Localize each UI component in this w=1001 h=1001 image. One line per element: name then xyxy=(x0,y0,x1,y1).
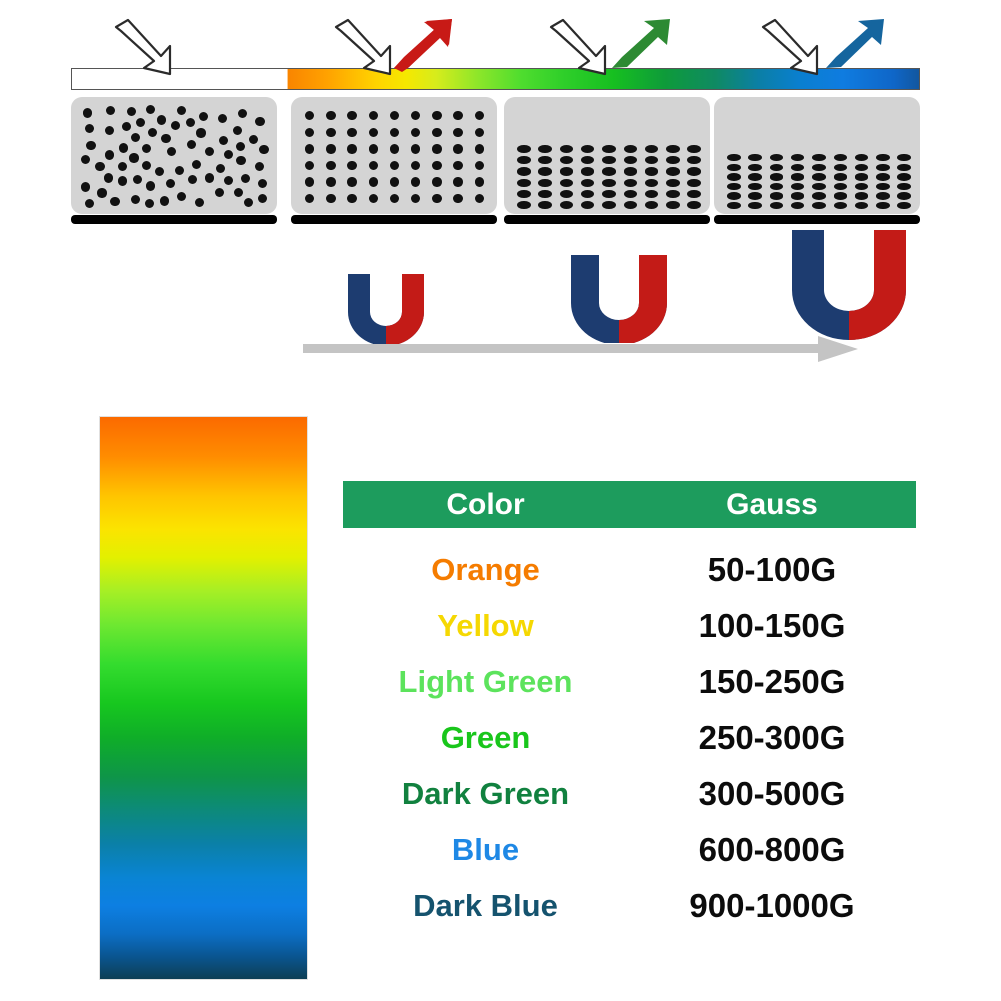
particle-dot xyxy=(233,126,242,135)
particle-dot xyxy=(727,183,741,190)
particle-dot xyxy=(538,156,552,164)
particle-dot xyxy=(453,144,462,153)
particle-dot xyxy=(347,177,356,186)
panel-random-particles xyxy=(71,97,277,214)
particle-dot xyxy=(855,183,869,190)
particle-dot xyxy=(624,190,638,198)
particle-dot xyxy=(855,154,869,161)
table-row: Dark Blue900-1000G xyxy=(343,878,916,934)
particle-dot xyxy=(517,179,531,187)
particle-dot xyxy=(259,145,268,154)
particle-dot xyxy=(560,190,574,198)
particle-dot xyxy=(258,179,267,188)
particle-dot xyxy=(770,154,784,161)
particle-dot xyxy=(177,106,186,115)
particle-dot xyxy=(305,177,314,186)
particle-dot xyxy=(560,179,574,187)
particle-dot xyxy=(770,173,784,180)
particle-dot xyxy=(876,164,890,171)
particle-dot xyxy=(224,176,233,185)
particle-dot xyxy=(666,179,680,187)
particle-dot xyxy=(390,194,399,203)
particle-dot xyxy=(517,167,531,175)
particle-dot xyxy=(538,190,552,198)
particle-dot xyxy=(645,179,659,187)
particle-dot xyxy=(155,167,164,176)
particle-dot xyxy=(205,147,214,156)
particle-dot xyxy=(215,188,224,197)
particle-dot xyxy=(255,162,264,171)
particle-dot xyxy=(770,192,784,199)
cell-color-name: Dark Blue xyxy=(343,888,628,924)
cell-gauss-range: 600-800G xyxy=(628,831,916,869)
particle-dot xyxy=(216,164,225,173)
table-row: Orange50-100G xyxy=(343,542,916,598)
particle-dot xyxy=(791,164,805,171)
particle-dot xyxy=(326,144,335,153)
particle-dot xyxy=(791,173,805,180)
particle-dot xyxy=(602,201,616,209)
particle-dot xyxy=(834,192,848,199)
particle-dot xyxy=(748,164,762,171)
particle-dot xyxy=(432,111,441,120)
particle-dot xyxy=(876,183,890,190)
particle-dot xyxy=(666,201,680,209)
table-row: Yellow100-150G xyxy=(343,598,916,654)
particle-dot xyxy=(581,179,595,187)
particle-dot xyxy=(581,156,595,164)
particle-dot xyxy=(148,128,157,137)
particle-dot xyxy=(687,167,701,175)
column-header-color: Color xyxy=(343,488,628,522)
particle-dot xyxy=(205,173,214,182)
particle-dot xyxy=(118,176,127,185)
particle-dot xyxy=(97,188,106,197)
particle-dot xyxy=(666,156,680,164)
particle-dot xyxy=(369,111,378,120)
cell-color-name: Yellow xyxy=(343,608,628,644)
particle-dot xyxy=(146,105,155,114)
red-arrow-icon xyxy=(390,16,456,72)
particle-dot xyxy=(175,166,184,175)
particle-dot xyxy=(326,177,335,186)
particle-dot xyxy=(411,144,420,153)
particle-dot xyxy=(560,145,574,153)
cell-color-name: Orange xyxy=(343,552,628,588)
particle-dot xyxy=(390,177,399,186)
particle-dot xyxy=(136,118,145,127)
particle-dot xyxy=(105,150,114,159)
particle-dot xyxy=(187,140,196,149)
particle-dot xyxy=(770,183,784,190)
particle-dot xyxy=(196,128,205,137)
particle-dot xyxy=(218,114,227,123)
particle-dot xyxy=(347,144,356,153)
particle-dot xyxy=(411,194,420,203)
particle-dot xyxy=(142,144,151,153)
particle-dot xyxy=(195,198,204,207)
particle-dot xyxy=(119,143,128,152)
particle-dot xyxy=(748,154,762,161)
particle-dot xyxy=(812,164,826,171)
particle-dot xyxy=(834,164,848,171)
particle-dot xyxy=(133,175,142,184)
particle-dot xyxy=(186,118,195,127)
particle-dot xyxy=(411,177,420,186)
particle-dot xyxy=(249,135,258,144)
particle-dot xyxy=(110,197,119,206)
particle-dot xyxy=(390,128,399,137)
particle-dot xyxy=(475,177,484,186)
cell-color-name: Blue xyxy=(343,832,628,868)
particle-dot xyxy=(645,145,659,153)
particle-dot xyxy=(85,199,94,208)
particle-dot xyxy=(687,179,701,187)
particle-dot xyxy=(305,161,314,170)
particle-dot xyxy=(142,161,151,170)
particle-dot xyxy=(645,190,659,198)
particle-dot xyxy=(326,128,335,137)
particle-dot xyxy=(560,201,574,209)
cell-gauss-range: 900-1000G xyxy=(628,887,916,925)
particle-dot xyxy=(369,161,378,170)
cell-color-name: Light Green xyxy=(343,664,628,700)
particle-dot xyxy=(602,190,616,198)
particle-dot xyxy=(624,201,638,209)
table-header-row: Color Gauss xyxy=(343,481,916,528)
particle-dot xyxy=(748,192,762,199)
particle-dot xyxy=(305,128,314,137)
cell-gauss-range: 250-300G xyxy=(628,719,916,757)
particle-dot xyxy=(390,144,399,153)
particle-dot xyxy=(347,111,356,120)
particle-dot xyxy=(897,202,911,209)
particle-dot xyxy=(602,156,616,164)
particle-dot xyxy=(244,198,253,207)
particle-dot xyxy=(167,147,176,156)
panel-base-bar xyxy=(71,215,277,224)
vertical-color-gradient-swatch xyxy=(100,417,307,979)
particle-dot xyxy=(812,183,826,190)
gauss-color-chart-page: Color Gauss Orange50-100GYellow100-150GL… xyxy=(0,0,1001,1001)
particle-dot xyxy=(834,154,848,161)
particle-dot xyxy=(897,173,911,180)
particle-dot xyxy=(105,126,114,135)
magnet-small xyxy=(340,272,432,344)
table-row: Light Green150-250G xyxy=(343,654,916,710)
particle-dot xyxy=(517,145,531,153)
particle-dot xyxy=(897,192,911,199)
particle-dot xyxy=(727,192,741,199)
panel-base-bar xyxy=(291,215,497,224)
particle-dot xyxy=(390,111,399,120)
particle-dot xyxy=(104,173,113,182)
cell-gauss-range: 300-500G xyxy=(628,775,916,813)
particle-dot xyxy=(258,194,267,203)
particle-dot xyxy=(581,167,595,175)
particle-dot xyxy=(411,111,420,120)
particle-dot xyxy=(145,199,154,208)
increasing-strength-arrow xyxy=(303,335,858,363)
green-arrow-icon xyxy=(608,16,674,72)
particle-dot xyxy=(432,194,441,203)
particle-dot xyxy=(475,194,484,203)
particle-dot xyxy=(432,144,441,153)
particle-dot xyxy=(517,201,531,209)
particle-dot xyxy=(538,167,552,175)
particle-dot xyxy=(453,111,462,120)
particle-dot xyxy=(131,195,140,204)
table-row: Blue600-800G xyxy=(343,822,916,878)
table-row: Dark Green300-500G xyxy=(343,766,916,822)
particle-dot xyxy=(855,164,869,171)
particle-dot xyxy=(517,156,531,164)
particle-dot xyxy=(791,183,805,190)
particle-dot xyxy=(687,190,701,198)
particle-dot xyxy=(687,156,701,164)
particle-dot xyxy=(624,145,638,153)
particle-dot xyxy=(897,183,911,190)
particle-dot xyxy=(131,133,140,142)
particle-dot xyxy=(748,202,762,209)
magnet-large xyxy=(782,228,916,340)
particle-dot xyxy=(238,109,247,118)
particle-dot xyxy=(855,202,869,209)
particle-dot xyxy=(770,164,784,171)
panel-compressed-full xyxy=(714,97,920,214)
particle-dot xyxy=(727,154,741,161)
particle-dot xyxy=(127,107,136,116)
particle-dot xyxy=(602,179,616,187)
blue-arrow-icon xyxy=(822,16,888,72)
particle-dot xyxy=(369,128,378,137)
panel-compressed-partial xyxy=(504,97,710,214)
particle-dot xyxy=(118,162,127,171)
particle-dot xyxy=(192,160,201,169)
particle-dot xyxy=(876,202,890,209)
table-body: Orange50-100GYellow100-150GLight Green15… xyxy=(343,542,916,934)
particle-dot xyxy=(188,175,197,184)
particle-dot xyxy=(855,173,869,180)
particle-dot xyxy=(624,179,638,187)
particle-dot xyxy=(812,154,826,161)
particle-dot xyxy=(369,144,378,153)
particle-dot xyxy=(581,145,595,153)
particle-dot xyxy=(347,161,356,170)
particle-dot xyxy=(897,164,911,171)
white-arrow-icon xyxy=(760,18,830,78)
particle-dot xyxy=(727,202,741,209)
particle-dot xyxy=(748,183,762,190)
particle-dot xyxy=(876,154,890,161)
particle-dot xyxy=(666,167,680,175)
cell-gauss-range: 100-150G xyxy=(628,607,916,645)
particle-dot xyxy=(241,174,250,183)
particle-dot xyxy=(95,162,104,171)
particle-dot xyxy=(369,194,378,203)
particle-dot xyxy=(305,111,314,120)
particle-dot xyxy=(177,192,186,201)
particle-dot xyxy=(411,161,420,170)
particle-dot xyxy=(157,115,166,124)
particle-dot xyxy=(581,201,595,209)
particle-dot xyxy=(106,106,115,115)
particle-dot xyxy=(369,177,378,186)
particle-dot xyxy=(219,136,228,145)
particle-dot xyxy=(161,134,170,143)
particle-dot xyxy=(581,190,595,198)
particle-dot xyxy=(305,194,314,203)
cell-gauss-range: 50-100G xyxy=(628,551,916,589)
particle-dot xyxy=(453,194,462,203)
particle-dot xyxy=(812,202,826,209)
particle-dot xyxy=(666,145,680,153)
particle-dot xyxy=(645,156,659,164)
particle-dot xyxy=(475,161,484,170)
particle-dot xyxy=(453,177,462,186)
particle-dot xyxy=(834,183,848,190)
particle-dot xyxy=(770,202,784,209)
particle-dot xyxy=(81,155,90,164)
particle-dot xyxy=(453,128,462,137)
particle-dot xyxy=(876,173,890,180)
particle-dot xyxy=(602,145,616,153)
particle-dot xyxy=(538,179,552,187)
particle-dot xyxy=(432,177,441,186)
particle-dot xyxy=(83,108,92,117)
particle-dot xyxy=(475,144,484,153)
column-header-gauss: Gauss xyxy=(628,488,916,522)
particle-dot xyxy=(432,161,441,170)
panel-base-bar xyxy=(714,215,920,224)
particle-dot xyxy=(876,192,890,199)
particle-dot xyxy=(171,121,180,130)
particle-dot xyxy=(748,173,762,180)
particle-dot xyxy=(166,179,175,188)
table-row: Green250-300G xyxy=(343,710,916,766)
particle-dot xyxy=(645,201,659,209)
particle-dot xyxy=(624,167,638,175)
particle-dot xyxy=(687,201,701,209)
particle-dot xyxy=(199,112,208,121)
particle-dot xyxy=(81,182,90,191)
particle-dot xyxy=(727,164,741,171)
particle-dot xyxy=(791,154,805,161)
particle-dot xyxy=(224,150,233,159)
panel-base-bar xyxy=(504,215,710,224)
particle-dot xyxy=(453,161,462,170)
particle-dot xyxy=(432,128,441,137)
particle-dot xyxy=(624,156,638,164)
particle-dot xyxy=(347,128,356,137)
cell-color-name: Dark Green xyxy=(343,776,628,812)
magnetization-process-diagram xyxy=(0,0,1001,400)
particle-dot xyxy=(122,122,131,131)
particle-dot xyxy=(602,167,616,175)
particle-dot xyxy=(834,173,848,180)
particle-dot xyxy=(897,154,911,161)
particle-dot xyxy=(347,194,356,203)
particle-dot xyxy=(645,167,659,175)
particle-dot xyxy=(236,156,245,165)
particle-dot xyxy=(812,192,826,199)
particle-dot xyxy=(146,181,155,190)
particle-dot xyxy=(234,188,243,197)
particle-dot xyxy=(129,153,138,162)
particle-dot xyxy=(85,124,94,133)
particle-dot xyxy=(560,167,574,175)
particle-dot xyxy=(834,202,848,209)
particle-dot xyxy=(86,141,95,150)
particle-dot xyxy=(475,111,484,120)
particle-dot xyxy=(475,128,484,137)
particle-dot xyxy=(687,145,701,153)
particle-dot xyxy=(791,192,805,199)
particle-dot xyxy=(666,190,680,198)
particle-dot xyxy=(390,161,399,170)
gauss-color-table: Color Gauss Orange50-100GYellow100-150GL… xyxy=(343,481,916,934)
particle-dot xyxy=(326,161,335,170)
particle-dot xyxy=(538,201,552,209)
particle-dot xyxy=(326,194,335,203)
white-arrow-icon xyxy=(113,18,183,78)
magnet-medium xyxy=(562,253,676,343)
particle-dot xyxy=(791,202,805,209)
particle-dot xyxy=(727,173,741,180)
particle-dot xyxy=(236,142,245,151)
particle-dot xyxy=(160,196,169,205)
particle-dot xyxy=(812,173,826,180)
particle-dot xyxy=(560,156,574,164)
cell-gauss-range: 150-250G xyxy=(628,663,916,701)
particle-dot xyxy=(517,190,531,198)
particle-dot xyxy=(305,144,314,153)
particle-dot xyxy=(855,192,869,199)
particle-dot xyxy=(411,128,420,137)
particle-dot xyxy=(255,117,264,126)
particle-dot xyxy=(538,145,552,153)
cell-color-name: Green xyxy=(343,720,628,756)
particle-dot xyxy=(326,111,335,120)
panel-aligned-grid xyxy=(291,97,497,214)
